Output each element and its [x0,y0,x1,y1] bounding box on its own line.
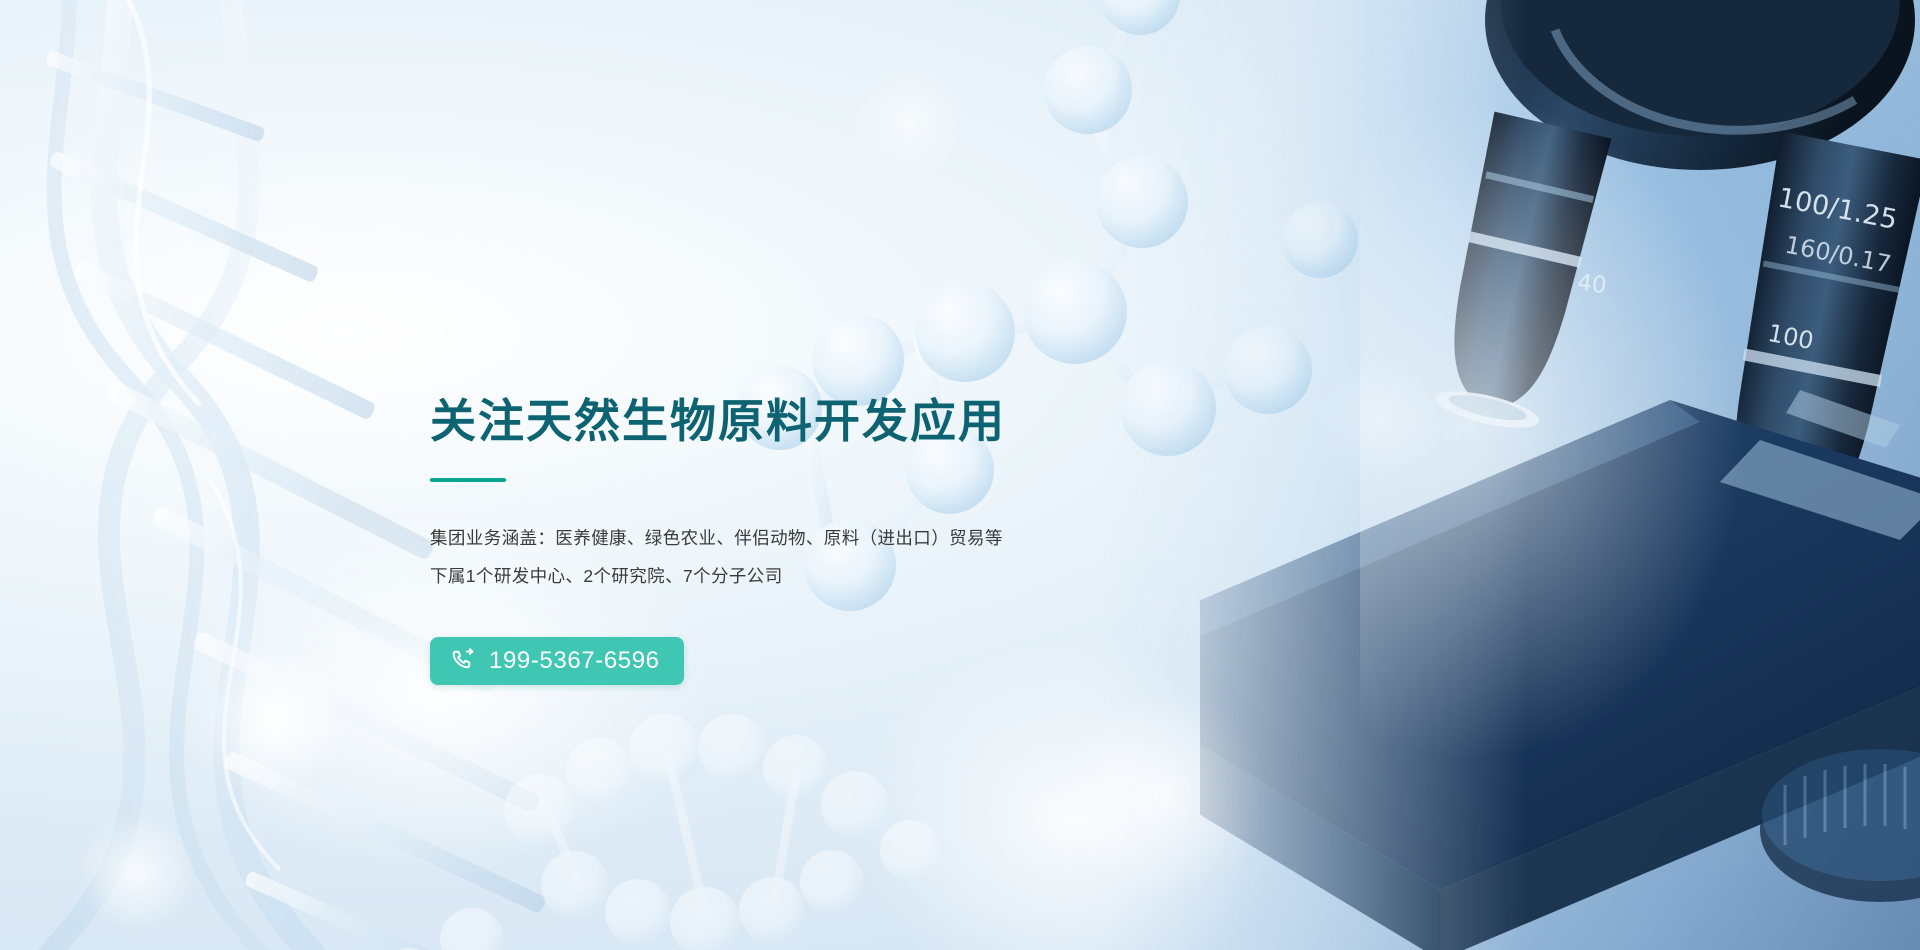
hero-subtitle: 集团业务涵盖：医养健康、绿色农业、伴侣动物、原料（进出口）贸易等 下属1个研发中… [430,519,1190,595]
accent-divider [430,478,506,482]
bokeh-spot [830,40,990,200]
phone-forward-icon [451,648,476,673]
phone-call-button[interactable]: 199-5367-6596 [430,637,684,685]
microscope-photo-region: 40 100/1.25 160/0.17 100 [1100,0,1920,950]
hero-subtitle-line-1: 集团业务涵盖：医养健康、绿色农业、伴侣动物、原料（进出口）贸易等 [430,519,1190,557]
svg-text:40: 40 [1576,270,1608,299]
hero-subtitle-line-2: 下属1个研发中心、2个研究院、7个分子公司 [430,557,1190,595]
page-title: 关注天然生物原料开发应用 [430,396,1190,448]
microscope-graphic: 40 100/1.25 160/0.17 100 [1200,0,1920,950]
phone-number-label: 199-5367-6596 [489,649,660,673]
hero-content: 关注天然生物原料开发应用 集团业务涵盖：医养健康、绿色农业、伴侣动物、原料（进出… [430,396,1190,685]
hero-banner: 40 100/1.25 160/0.17 100 [0,0,1920,950]
